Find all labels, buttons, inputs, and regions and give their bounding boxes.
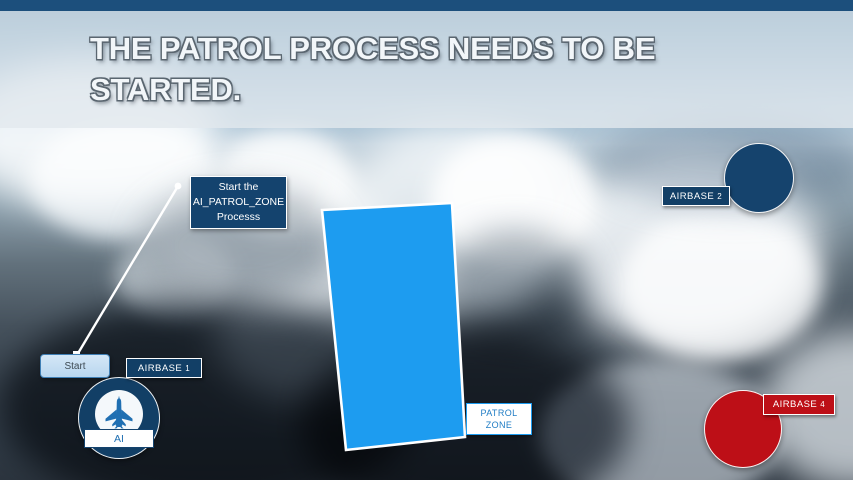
cloud-shape <box>620 210 820 360</box>
airbase-4-number: 4 <box>820 400 825 409</box>
fighter-jet-icon <box>101 396 137 432</box>
patrol-zone-label-line-2: ZONE <box>486 419 513 431</box>
cloud-shadow-shape <box>440 230 590 350</box>
callout-line-1: Start the <box>219 180 259 195</box>
start-button-label: Start <box>64 361 85 372</box>
airbase-4-label[interactable]: AIRBASE 4 <box>763 394 835 415</box>
airbase-2-label[interactable]: AIRBASE 2 <box>662 186 730 206</box>
patrol-zone-label-line-1: PATROL <box>480 407 517 419</box>
airbase-1-label-text: AIRBASE <box>138 363 182 374</box>
airbase-1-label[interactable]: AIRBASE 1 <box>126 358 202 378</box>
airbase-2-marker[interactable] <box>724 143 794 213</box>
callout-line-3: Processs <box>217 210 260 225</box>
airbase-2-label-text: AIRBASE <box>670 191 714 202</box>
callout-line-2: AI_PATROL_ZONE <box>193 195 284 210</box>
airbase-4-label-text: AIRBASE <box>773 399 817 410</box>
page-title: THE PATROL PROCESS NEEDS TO BE STARTED. <box>90 28 790 110</box>
patrol-zone-label[interactable]: PATROL ZONE <box>466 403 532 435</box>
start-button[interactable]: Start <box>40 354 110 378</box>
presentation-slide: THE PATROL PROCESS NEEDS TO BE STARTED. … <box>0 0 853 480</box>
ai-node-label: AI <box>84 429 154 448</box>
airbase-2-number: 2 <box>717 192 722 201</box>
top-accent-bar <box>0 0 853 11</box>
start-process-callout[interactable]: Start the AI_PATROL_ZONE Processs <box>190 176 287 229</box>
ai-label-text: AI <box>114 433 124 445</box>
airbase-1-number: 1 <box>185 364 190 373</box>
